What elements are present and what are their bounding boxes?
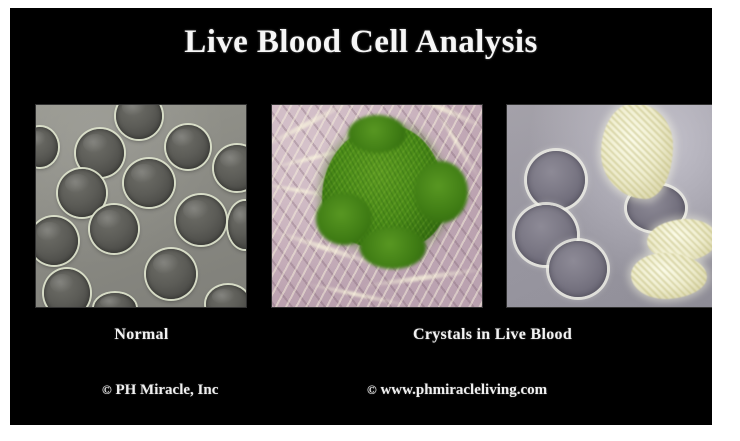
credit-website-label: www.phmiracleliving.com	[380, 382, 547, 398]
red-blood-cell	[36, 217, 78, 265]
page-title: Live Blood Cell Analysis	[10, 24, 712, 61]
micrograph-panel-mixed	[507, 105, 712, 307]
red-blood-cell	[90, 205, 138, 253]
green-crystal-lobe	[348, 115, 406, 153]
red-blood-cell	[214, 145, 246, 191]
red-blood-cell	[527, 151, 585, 209]
credit-company-label: PH Miracle, Inc	[115, 382, 218, 398]
mixed-blood-field	[507, 105, 712, 307]
caption-normal: Normal	[10, 326, 273, 344]
normal-blood-field	[36, 105, 246, 307]
red-blood-cell	[166, 125, 210, 169]
red-blood-cell	[116, 105, 162, 139]
copyright-icon: ©	[367, 382, 377, 397]
caption-crystal: Crystals in Live Blood	[273, 326, 712, 344]
credit-company: © PH Miracle, Inc	[102, 382, 218, 399]
crystal-cluster	[601, 105, 673, 199]
red-blood-cell	[549, 241, 607, 297]
red-blood-cell	[206, 285, 246, 307]
red-blood-cell	[124, 159, 174, 207]
red-blood-cell	[228, 201, 246, 249]
fibrin-strand	[305, 282, 413, 307]
credit-website: © www.phmiracleliving.com	[367, 382, 547, 399]
red-blood-cell	[94, 293, 136, 307]
micrograph-panel-crystal	[272, 105, 482, 307]
crystal-cluster	[631, 253, 707, 299]
micrograph-panel-row	[36, 105, 705, 307]
red-blood-cell	[176, 195, 226, 245]
micrograph-panel-normal	[36, 105, 246, 307]
green-crystal-lobe	[414, 161, 468, 223]
copyright-icon: ©	[102, 382, 112, 397]
poster-card: Live Blood Cell Analysis	[10, 8, 712, 425]
red-blood-cell	[146, 249, 196, 299]
fibrin-strand	[360, 266, 482, 289]
green-crystal-lobe	[360, 227, 426, 269]
red-blood-cell	[36, 127, 58, 167]
crystal-blood-field	[272, 105, 482, 307]
red-blood-cell	[44, 269, 90, 307]
